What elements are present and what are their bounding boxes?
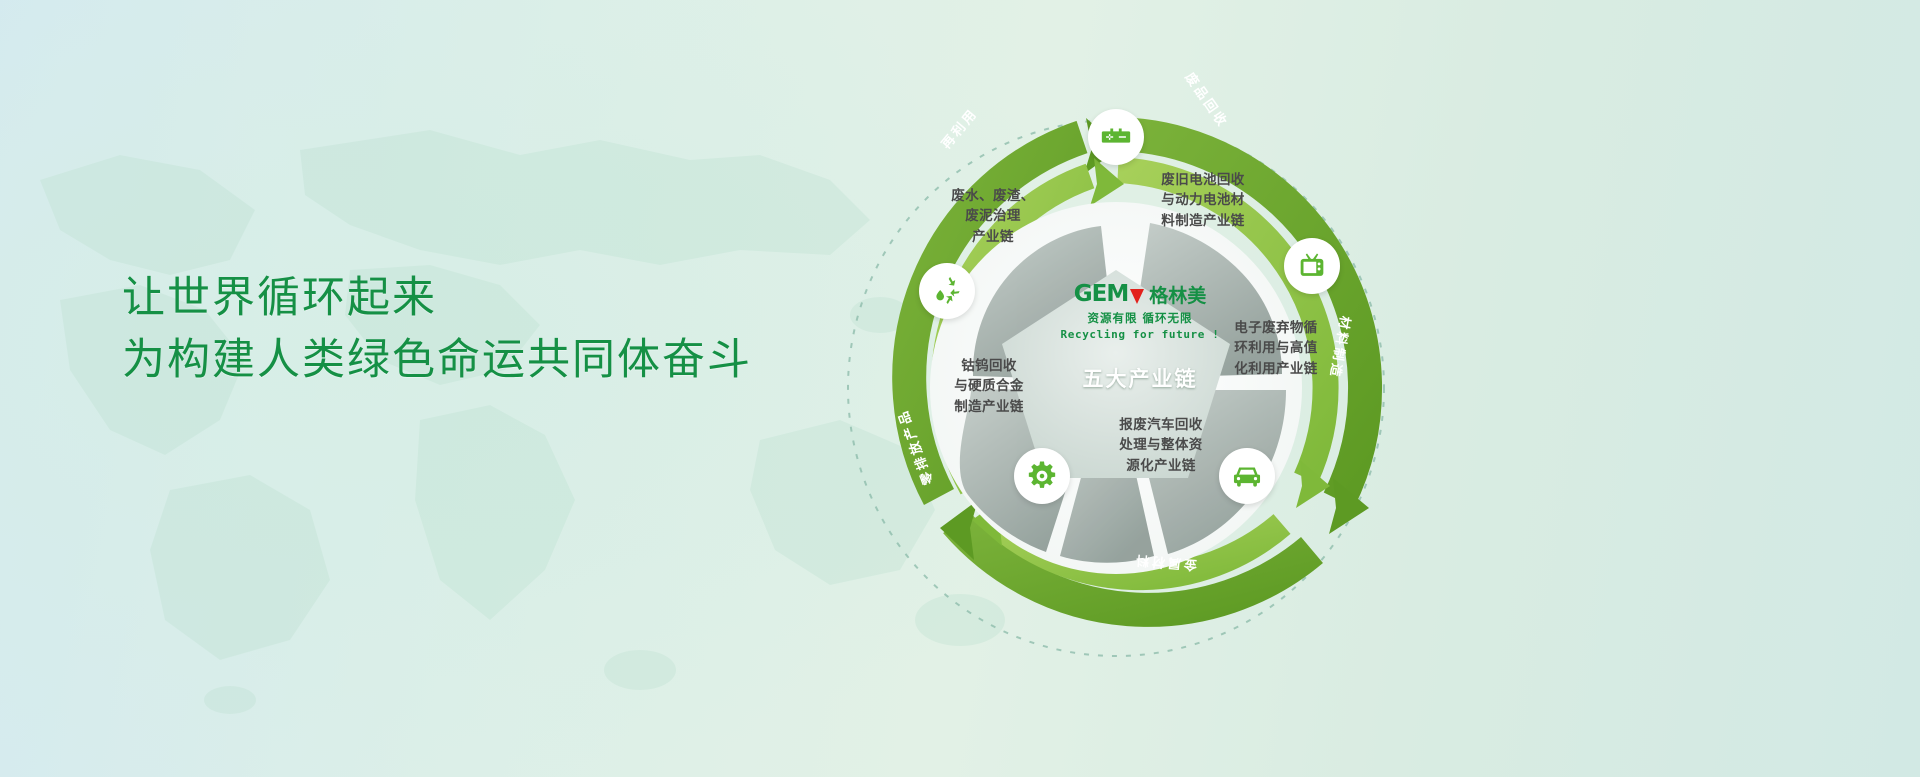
chain-label-cobalt: 钴钨回收 与硬质合金 制造产业链	[924, 356, 1054, 417]
car-icon	[1230, 459, 1264, 493]
chain-label-ewaste: 电子废弃物循 环利用与高值 化利用产业链	[1211, 318, 1341, 379]
page-title: 让世界循环起来 为构建人类绿色命运共同体奋斗	[122, 268, 752, 392]
gear-icon	[1025, 459, 1059, 493]
recycle-water-icon	[930, 274, 964, 308]
five-industry-chain-diagram: 废水、废渣、 废泥治理 产业链 废旧电池回收 与动力电池材 料制造产业链 电子废…	[836, 8, 1396, 768]
television-icon	[1295, 249, 1329, 283]
headline-line-1: 让世界循环起来	[122, 268, 752, 330]
hero-banner: 让世界循环起来 为构建人类绿色命运共同体奋斗	[0, 0, 1920, 777]
chain-label-battery: 废旧电池回收 与动力电池材 料制造产业链	[1138, 170, 1268, 231]
battery-icon	[1099, 120, 1133, 154]
chain-label-autos: 报废汽车回收 处理与整体资 源化产业链	[1096, 415, 1226, 476]
recycle-water-icon-badge[interactable]	[919, 263, 975, 319]
headline-line-2: 为构建人类绿色命运共同体奋斗	[122, 330, 752, 392]
television-icon-badge[interactable]	[1284, 238, 1340, 294]
gear-icon-badge[interactable]	[1014, 448, 1070, 504]
car-icon-badge[interactable]	[1219, 448, 1275, 504]
chain-label-wastewater: 废水、废渣、 废泥治理 产业链	[928, 186, 1058, 247]
battery-icon-badge[interactable]	[1088, 109, 1144, 165]
